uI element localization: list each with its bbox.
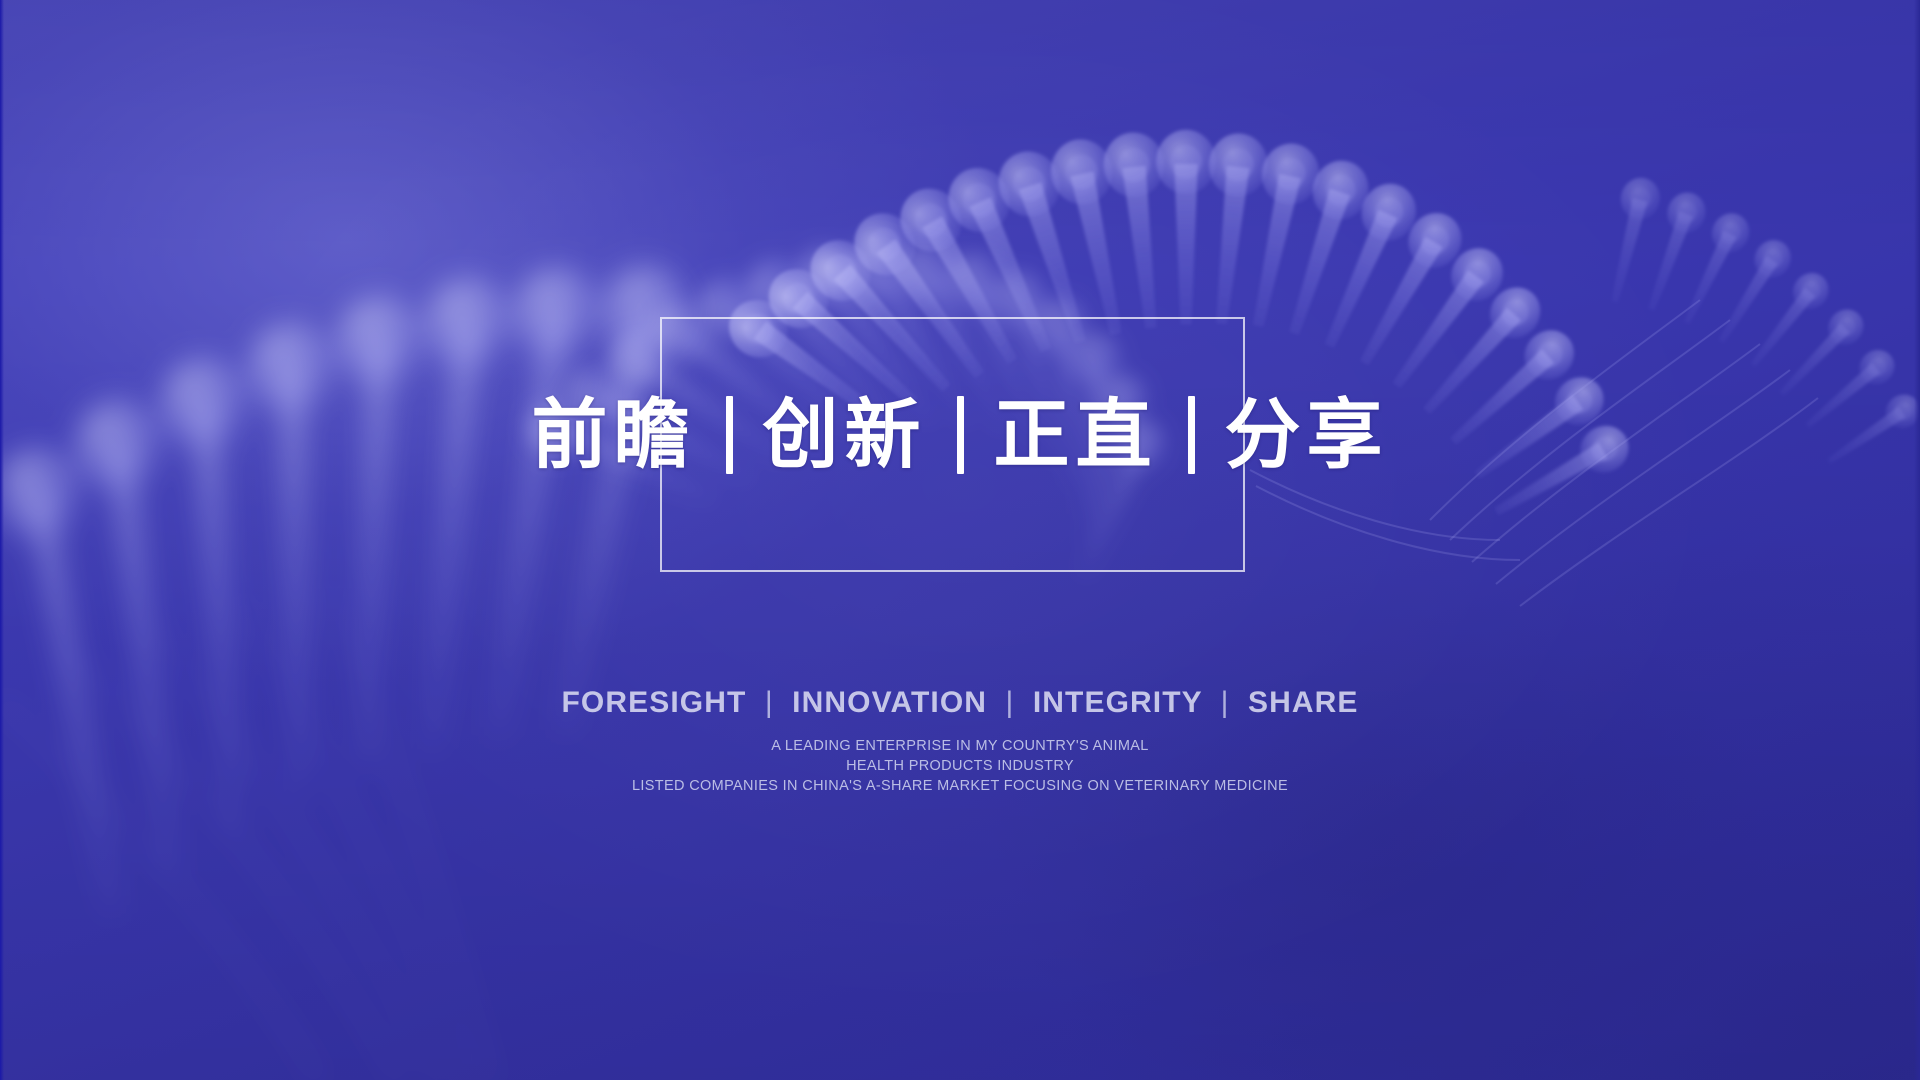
- tagline-share: SHARE: [1248, 686, 1359, 719]
- value-word-innovation: 创新: [763, 397, 927, 473]
- description-line-3: LISTED COMPANIES IN CHINA'S A-SHARE MARK…: [0, 776, 1920, 796]
- value-word-share: 分享: [1225, 397, 1389, 473]
- company-description: A LEADING ENTERPRISE IN MY COUNTRY'S ANI…: [0, 736, 1920, 796]
- tagline-separator-1: |: [756, 686, 783, 720]
- value-separator-3: [1188, 396, 1195, 474]
- tagline-separator-3: |: [1212, 686, 1239, 720]
- value-word-foresight: 前瞻: [532, 397, 696, 473]
- description-line-2: HEALTH PRODUCTS INDUSTRY: [0, 756, 1920, 776]
- tagline-integrity: INTEGRITY: [1033, 686, 1202, 719]
- english-tagline: FORESIGHT | INNOVATION | INTEGRITY | SHA…: [0, 686, 1920, 720]
- description-line-1: A LEADING ENTERPRISE IN MY COUNTRY'S ANI…: [0, 736, 1920, 756]
- tagline-separator-2: |: [997, 686, 1024, 720]
- value-word-integrity: 正直: [994, 397, 1158, 473]
- core-values-row: 前瞻 创新 正直 分享: [0, 385, 1920, 485]
- values-banner: 前瞻 创新 正直 分享 FORESIGHT | INNOVATION | INT…: [0, 0, 1920, 1080]
- tagline-foresight: FORESIGHT: [561, 686, 746, 719]
- value-separator-2: [957, 396, 964, 474]
- value-separator-1: [726, 396, 733, 474]
- tagline-innovation: INNOVATION: [792, 686, 987, 719]
